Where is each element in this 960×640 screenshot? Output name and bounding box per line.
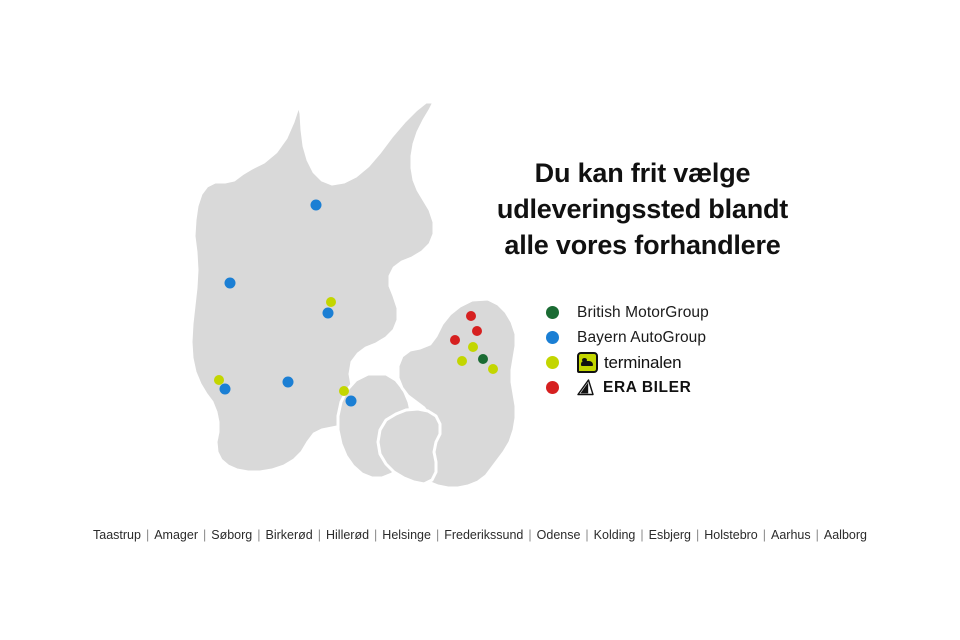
dealer-legend: British MotorGroup Bayern AutoGroup term… <box>546 300 876 400</box>
poster-canvas: Du kan frit vælge udleveringssted blandt… <box>0 0 960 640</box>
dot-aarhus-y <box>326 297 336 307</box>
dot-hillerod <box>472 326 482 336</box>
legend-label-bayern-autogroup: Bayern AutoGroup <box>577 329 706 347</box>
dot-holstebro <box>225 278 236 289</box>
green-dot-icon <box>546 306 559 319</box>
city-name: Amager <box>154 528 198 542</box>
city-separator: | <box>758 528 771 542</box>
terminalen-car-badge-icon <box>577 352 598 373</box>
city-name: Odense <box>537 528 581 542</box>
era-biler-logo: ERA BILER <box>577 379 691 397</box>
city-name: Helsinge <box>382 528 431 542</box>
city-name: Frederikssund <box>444 528 523 542</box>
dot-birkerod <box>468 342 478 352</box>
page-title: Du kan frit vælge udleveringssted blandt… <box>470 155 815 263</box>
city-separator: | <box>369 528 382 542</box>
city-separator: | <box>691 528 704 542</box>
headline-line-3: alle vores forhandlere <box>470 227 815 263</box>
city-separator: | <box>523 528 536 542</box>
legend-label-era-biler: ERA BILER <box>603 379 691 397</box>
dot-esbjerg-b <box>220 384 231 395</box>
city-separator: | <box>141 528 154 542</box>
city-separator: | <box>252 528 265 542</box>
city-name: Esbjerg <box>649 528 691 542</box>
legend-item-british-motorgroup: British MotorGroup <box>546 300 876 325</box>
city-separator: | <box>431 528 444 542</box>
city-separator: | <box>811 528 824 542</box>
red-dot-icon <box>546 381 559 394</box>
city-name: Aarhus <box>771 528 811 542</box>
city-separator: | <box>635 528 648 542</box>
city-name: Birkerød <box>266 528 313 542</box>
legend-item-bayern-autogroup: Bayern AutoGroup <box>546 325 876 350</box>
dot-frederikssund <box>450 335 460 345</box>
dot-helsinge <box>466 311 476 321</box>
dot-odense-b <box>346 396 357 407</box>
city-name: Hillerød <box>326 528 369 542</box>
dot-aalborg <box>311 200 322 211</box>
city-name: Kolding <box>594 528 636 542</box>
city-separator: | <box>198 528 211 542</box>
terminalen-logo: terminalen <box>577 352 681 373</box>
city-name: Aalborg <box>824 528 867 542</box>
legend-item-terminalen: terminalen <box>546 350 876 375</box>
dot-aarhus-b <box>323 308 334 319</box>
city-name: Holstebro <box>704 528 758 542</box>
legend-label-british-motorgroup: British MotorGroup <box>577 304 709 322</box>
headline-line-1: Du kan frit vælge <box>470 155 815 191</box>
dot-soborg <box>478 354 488 364</box>
blue-dot-icon <box>546 331 559 344</box>
city-list: Taastrup|Amager|Søborg|Birkerød|Hillerød… <box>0 528 960 542</box>
dot-odense-y <box>339 386 349 396</box>
legend-item-era-biler: ERA BILER <box>546 375 876 400</box>
city-name: Søborg <box>211 528 252 542</box>
yellow-dot-icon <box>546 356 559 369</box>
dot-amager <box>488 364 498 374</box>
headline-line-2: udleveringssted blandt <box>470 191 815 227</box>
dot-kolding <box>283 377 294 388</box>
city-name: Taastrup <box>93 528 141 542</box>
era-triangle-icon <box>577 379 597 396</box>
city-separator: | <box>313 528 326 542</box>
legend-label-terminalen: terminalen <box>604 353 681 373</box>
city-separator: | <box>580 528 593 542</box>
dot-taastrup <box>457 356 467 366</box>
